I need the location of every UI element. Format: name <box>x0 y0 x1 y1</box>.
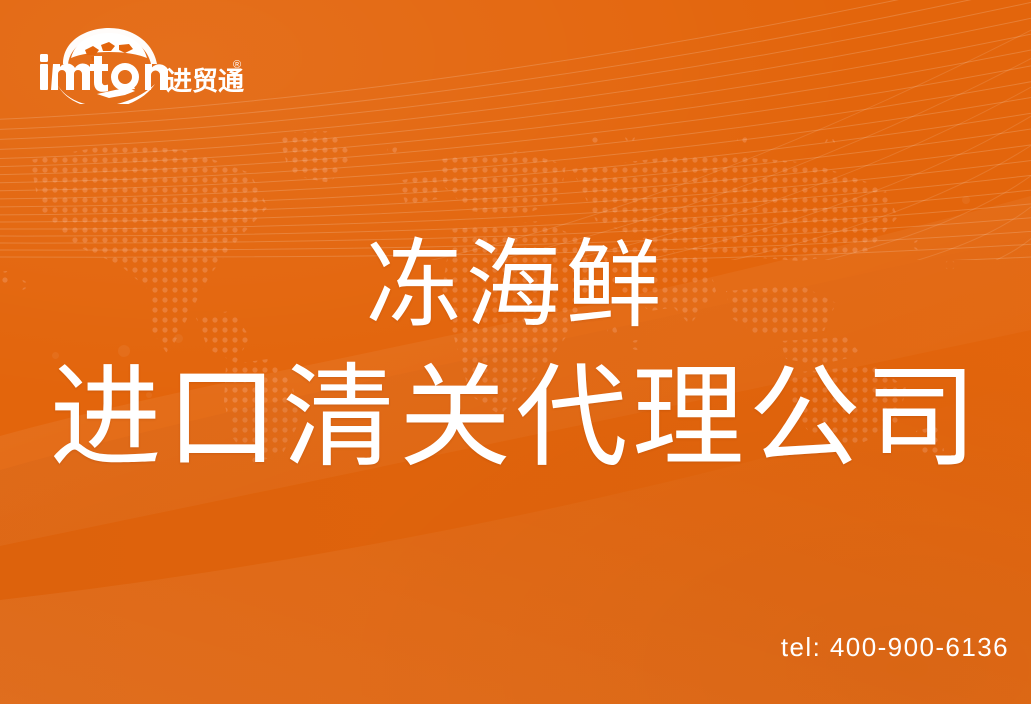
wave-curve-graphic <box>0 0 1031 704</box>
registered-mark-icon: ® <box>233 59 241 71</box>
decorative-bubble <box>962 196 970 204</box>
contact-telephone[interactable]: tel: 400-900-6136 <box>781 632 1009 663</box>
headline-line-2: 进口清关代理公司 <box>0 362 1031 474</box>
decorative-bubble <box>174 334 183 343</box>
promo-banner: 进贸通 ® 冻海鲜 进口清关代理公司 tel: 400-900-6136 <box>0 0 1031 704</box>
background-sheen <box>0 0 1031 704</box>
logo-chinese-name: 进贸通 <box>166 67 244 97</box>
headline-line-1: 冻海鲜 <box>0 238 1031 334</box>
brand-logo[interactable]: 进贸通 ® <box>37 28 247 104</box>
logo-wordmark <box>40 54 168 92</box>
